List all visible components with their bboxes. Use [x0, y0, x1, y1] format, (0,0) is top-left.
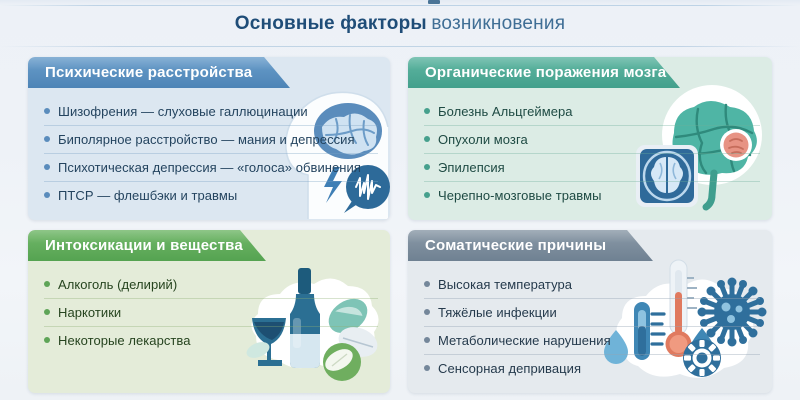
list-item[interactable]: Биполярное расстройство — мания и депрес… [44, 125, 376, 153]
card-header-label: Интоксикации и вещества [45, 237, 243, 254]
list-item[interactable]: Некоторые лекарства [44, 326, 376, 354]
card-list-organic-brain-lesions: Болезнь Альцгеймера Опухоли мозга Эпилеп… [408, 88, 772, 209]
card-header-organic-brain-lesions: Органические поражения мозга [408, 57, 680, 88]
list-item-label: Некоторые лекарства [58, 333, 191, 348]
list-item-label: Метаболические нарушения [438, 333, 611, 348]
bullet-icon [424, 337, 430, 343]
page-title-strong: Основные факторы [235, 13, 427, 34]
bullet-icon [44, 108, 50, 114]
header-divider-line [0, 5, 800, 6]
bullet-icon [424, 365, 430, 371]
bullet-icon [424, 164, 430, 170]
list-item-label: Черепно-мозговые травмы [438, 188, 602, 203]
list-item-label: Шизофрения — слуховые галлюцинации [58, 104, 308, 119]
bullet-icon [44, 281, 50, 287]
list-item-label: Опухоли мозга [438, 132, 528, 147]
list-item-label: Психотическая депрессия — «голоса» обвин… [58, 160, 361, 175]
card-header-label: Органические поражения мозга [425, 64, 666, 81]
bullet-icon [44, 337, 50, 343]
list-item-label: Болезнь Альцгеймера [438, 104, 573, 119]
card-list-intoxications-substances: Алкоголь (делирий) Наркотики Некоторые л… [28, 261, 390, 354]
card-organic-brain-lesions: Органические поражения мозга Болезнь Аль… [408, 57, 772, 220]
bullet-icon [44, 192, 50, 198]
list-item[interactable]: Болезнь Альцгеймера [424, 97, 758, 125]
bullet-icon [44, 309, 50, 315]
list-item[interactable]: Черепно-мозговые травмы [424, 181, 758, 209]
list-item[interactable]: Алкоголь (делирий) [44, 270, 376, 298]
list-item-label: Биполярное расстройство — мания и депрес… [58, 132, 355, 147]
title-underline-rule [0, 46, 800, 47]
bullet-icon [44, 136, 50, 142]
list-item[interactable]: Шизофрения — слуховые галлюцинации [44, 97, 376, 125]
list-item[interactable]: Сенсорная депривация [424, 354, 758, 382]
card-list-mental-disorders: Шизофрения — слуховые галлюцинации Бипол… [28, 88, 390, 209]
bullet-icon [424, 108, 430, 114]
list-item[interactable]: Метаболические нарушения [424, 326, 758, 354]
bullet-icon [424, 281, 430, 287]
list-item[interactable]: Опухоли мозга [424, 125, 758, 153]
page-title-light: возникновения [431, 13, 565, 34]
card-mental-disorders: Психические расстройства Шизофрения — сл… [28, 57, 390, 220]
bullet-icon [424, 192, 430, 198]
list-item-label: Эпилепсия [438, 160, 505, 175]
list-item[interactable]: Психотическая депрессия — «голоса» обвин… [44, 153, 376, 181]
list-item-label: Высокая температура [438, 277, 572, 292]
list-item-label: ПТСР — флешбэки и травмы [58, 188, 237, 203]
list-item[interactable]: ПТСР — флешбэки и травмы [44, 181, 376, 209]
card-header-label: Психические расстройства [45, 64, 252, 81]
card-header-somatic-causes: Соматические причины [408, 230, 653, 261]
list-item[interactable]: Тяжёлые инфекции [424, 298, 758, 326]
list-item-label: Алкоголь (делирий) [58, 277, 177, 292]
list-item-label: Наркотики [58, 305, 121, 320]
bullet-icon [44, 164, 50, 170]
card-header-mental-disorders: Психические расстройства [28, 57, 290, 88]
card-list-somatic-causes: Высокая температура Тяжёлые инфекции Мет… [408, 261, 772, 382]
card-intoxications-substances: Интоксикации и вещества Алкоголь (делири… [28, 230, 390, 393]
page-title: Основные факторы возникновения [0, 13, 800, 35]
list-item[interactable]: Эпилепсия [424, 153, 758, 181]
card-header-label: Соматические причины [425, 237, 606, 254]
list-item-label: Сенсорная депривация [438, 361, 581, 376]
card-somatic-causes: Соматические причины [408, 230, 772, 393]
list-item[interactable]: Высокая температура [424, 270, 758, 298]
bullet-icon [424, 309, 430, 315]
bullet-icon [424, 136, 430, 142]
list-item-label: Тяжёлые инфекции [438, 305, 557, 320]
card-header-intoxications-substances: Интоксикации и вещества [28, 230, 266, 261]
list-item[interactable]: Наркотики [44, 298, 376, 326]
